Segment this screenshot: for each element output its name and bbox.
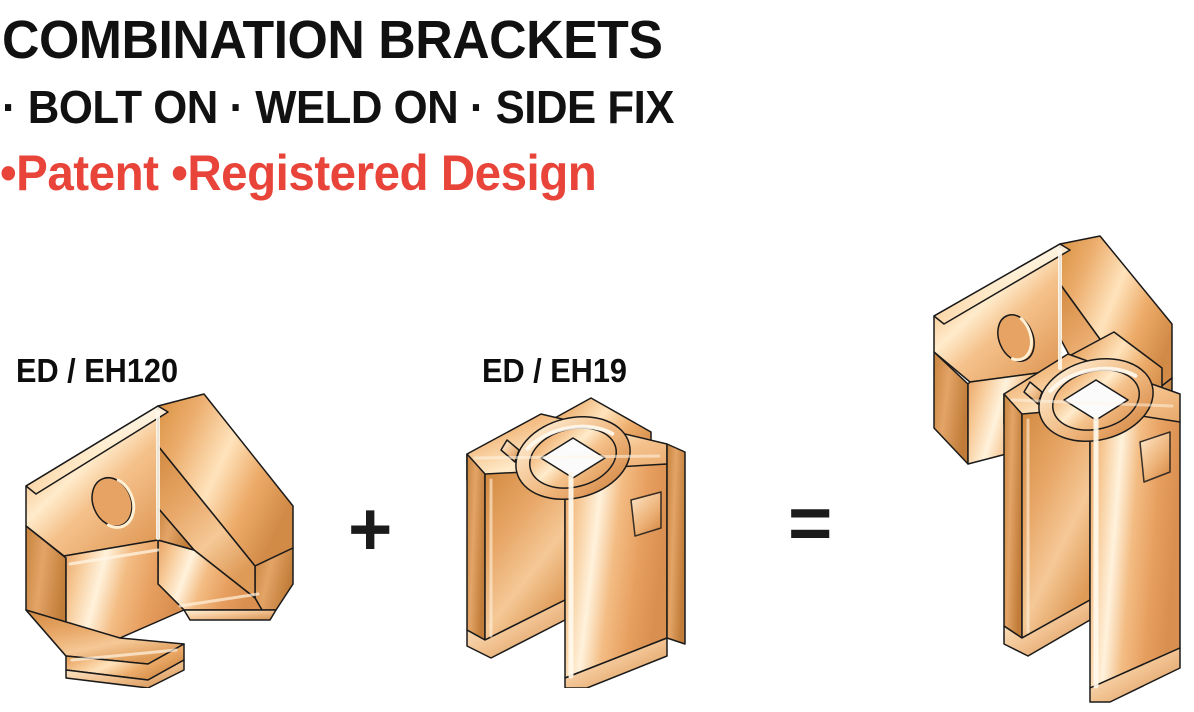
part-label-ed-eh19: ED / EH19 — [482, 352, 627, 390]
plus-operator: + — [348, 492, 392, 568]
highlight-streak-3 — [475, 456, 659, 458]
right-outer-flange — [667, 444, 685, 644]
bracket-ed-eh19-illustration — [445, 388, 695, 688]
page-title: COMBINATION BRACKETS — [2, 11, 662, 69]
bracket-ed-eh120-illustration — [8, 388, 308, 688]
right-wing-flange-edge — [184, 610, 276, 620]
left-channel-wall — [467, 454, 485, 640]
clip-inner-face — [1022, 408, 1090, 638]
equals-operator: = — [788, 486, 832, 562]
clip-left-wall — [1004, 394, 1022, 638]
side-notch — [631, 492, 661, 536]
features-subtitle: · BOLT ON · WELD ON · SIDE FIX — [2, 82, 674, 132]
part-label-ed-eh120: ED / EH120 — [16, 352, 178, 390]
patent-notice: •Patent •Registered Design — [0, 146, 596, 200]
combined-bracket-illustration — [900, 228, 1194, 712]
diagram-canvas: COMBINATION BRACKETS · BOLT ON · WELD ON… — [0, 0, 1194, 712]
